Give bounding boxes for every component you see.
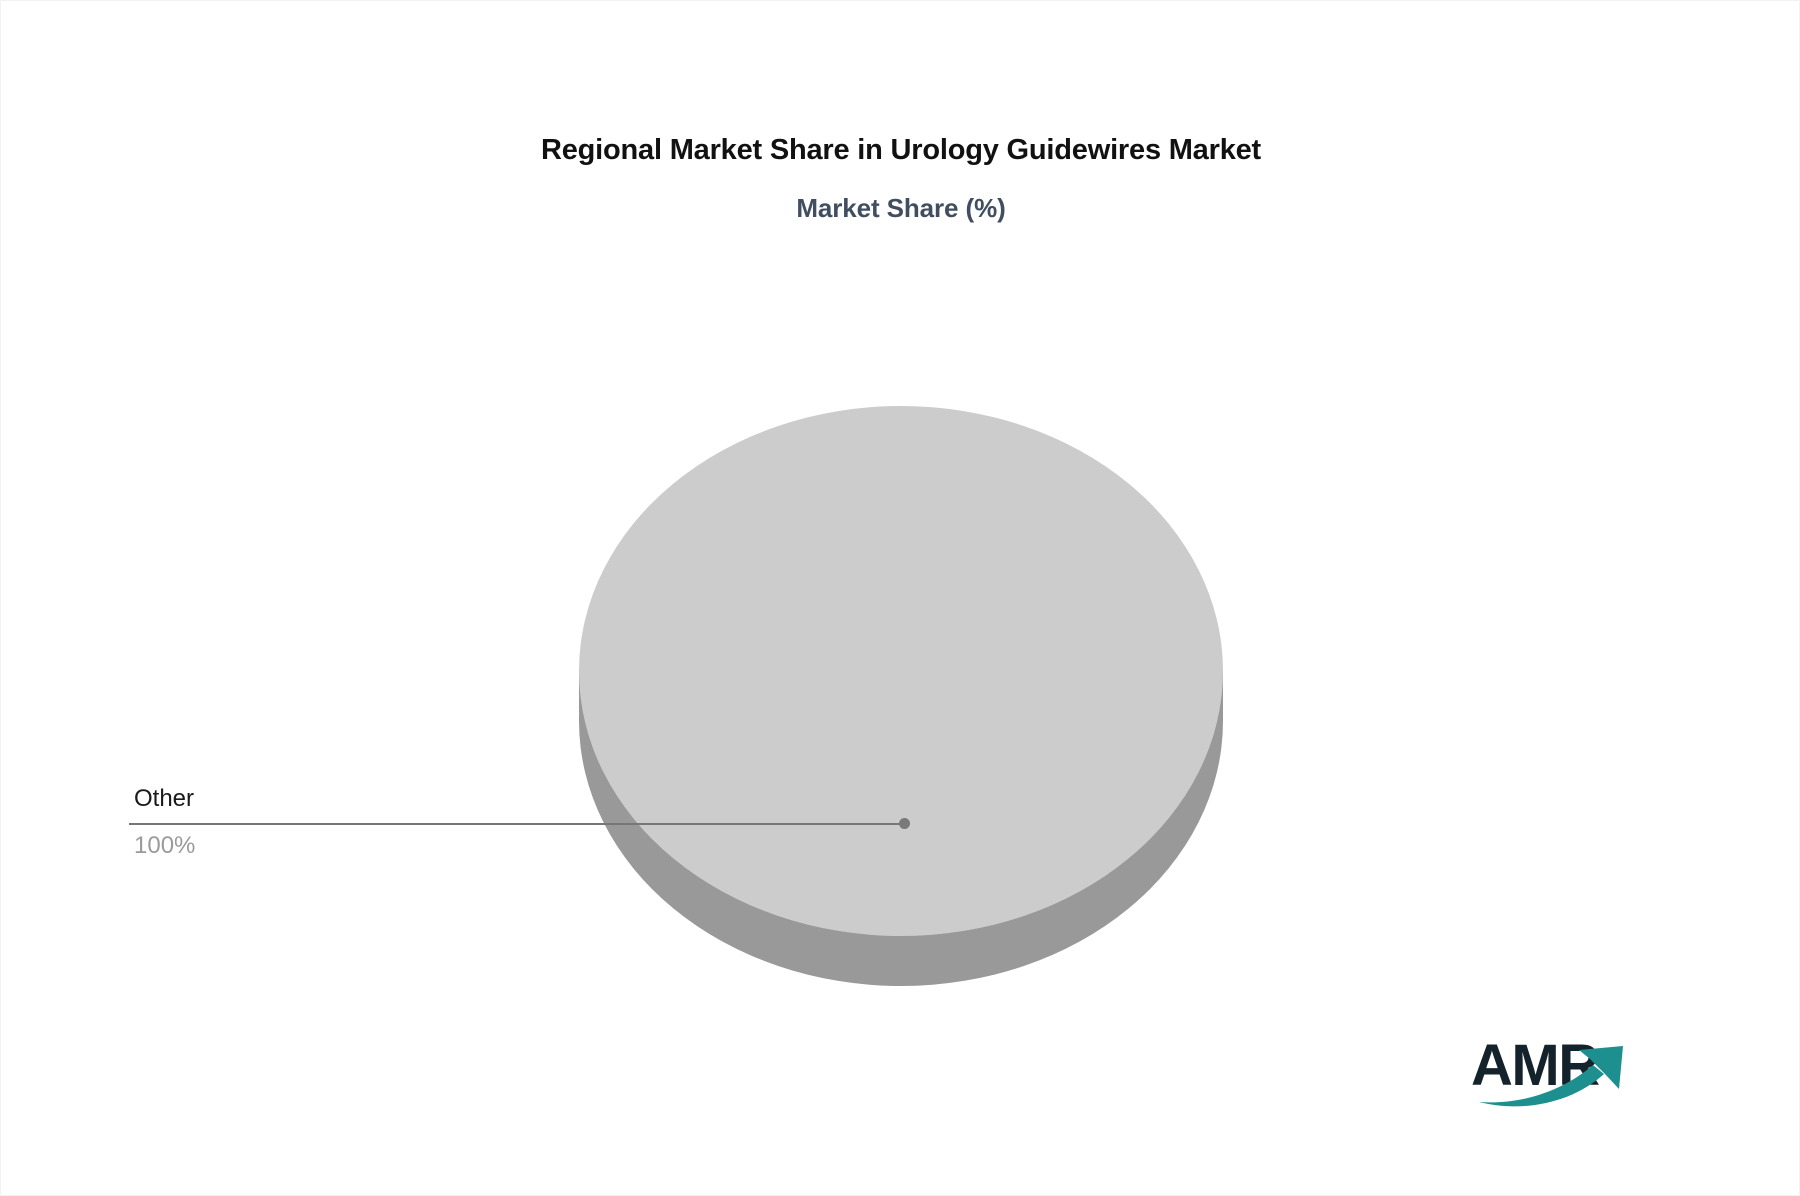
chart-subtitle: Market Share (%) — [1, 193, 1800, 224]
pie-value-other: 100% — [134, 834, 195, 858]
callout-leader-dot — [899, 818, 910, 829]
chart-title: Regional Market Share in Urology Guidewi… — [1, 134, 1800, 167]
amr-logo-graphic: AMR — [1471, 1029, 1661, 1107]
chart-canvas: Regional Market Share in Urology Guidewi… — [0, 0, 1800, 1196]
callout-leader-line — [129, 823, 904, 825]
pie-label-other: Other — [134, 787, 194, 811]
pie-chart-graphic — [576, 376, 1226, 966]
amr-logo: AMR — [1471, 1029, 1661, 1107]
pie-slice-other-top[interactable] — [579, 406, 1223, 936]
pie-chart — [576, 376, 1226, 966]
